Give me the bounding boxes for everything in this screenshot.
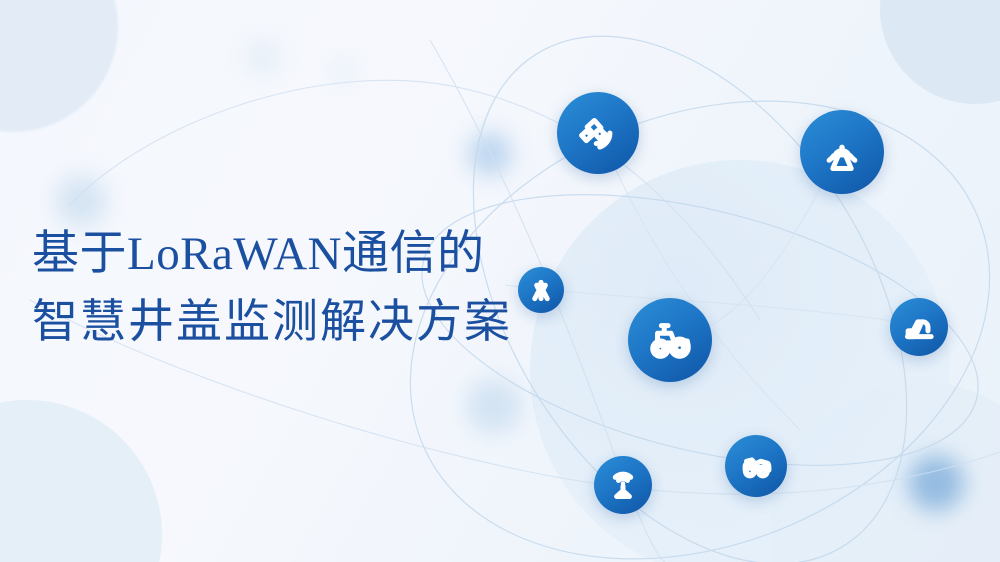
globe-sphere: [530, 160, 950, 562]
oil-pumpjack-icon: [903, 311, 935, 343]
corner-blob-bottom-left: [0, 400, 162, 562]
node-work-vehicle[interactable]: [725, 435, 787, 497]
node-oil-pumpjack[interactable]: [890, 298, 948, 356]
soft-dot-3: [55, 175, 107, 227]
radio-tower-icon: [819, 129, 865, 175]
corner-blob-bottom-right: [770, 382, 1000, 562]
page-title: 基于LoRaWAN通信的 智慧井盖监测解决方案: [32, 222, 592, 356]
node-radio-tower[interactable]: [800, 110, 884, 194]
title-line-1: 基于LoRaWAN通信的: [32, 222, 592, 286]
title-line-2: 智慧井盖监测解决方案: [32, 286, 592, 356]
node-signal-beacon[interactable]: [594, 456, 652, 514]
soft-dot-5: [466, 378, 522, 434]
signal-beacon-icon: [607, 469, 639, 501]
node-satellite[interactable]: [557, 92, 639, 174]
survey-tripod-icon: [529, 278, 553, 302]
corner-blob-top-right: [880, 0, 1000, 104]
soft-dot-4: [468, 132, 512, 176]
corner-blob-top-left: [0, 0, 118, 132]
tractor-icon: [646, 316, 694, 364]
satellite-dish-icon: [576, 111, 620, 155]
presentation-cover-slide: 基于LoRaWAN通信的 智慧井盖监测解决方案: [0, 0, 1000, 562]
soft-dot-1: [246, 40, 280, 74]
work-vehicle-icon: [739, 449, 773, 483]
soft-dot-6: [908, 455, 964, 511]
soft-dot-2: [330, 58, 356, 84]
node-tractor[interactable]: [628, 298, 712, 382]
node-survey-tripod[interactable]: [518, 267, 564, 313]
